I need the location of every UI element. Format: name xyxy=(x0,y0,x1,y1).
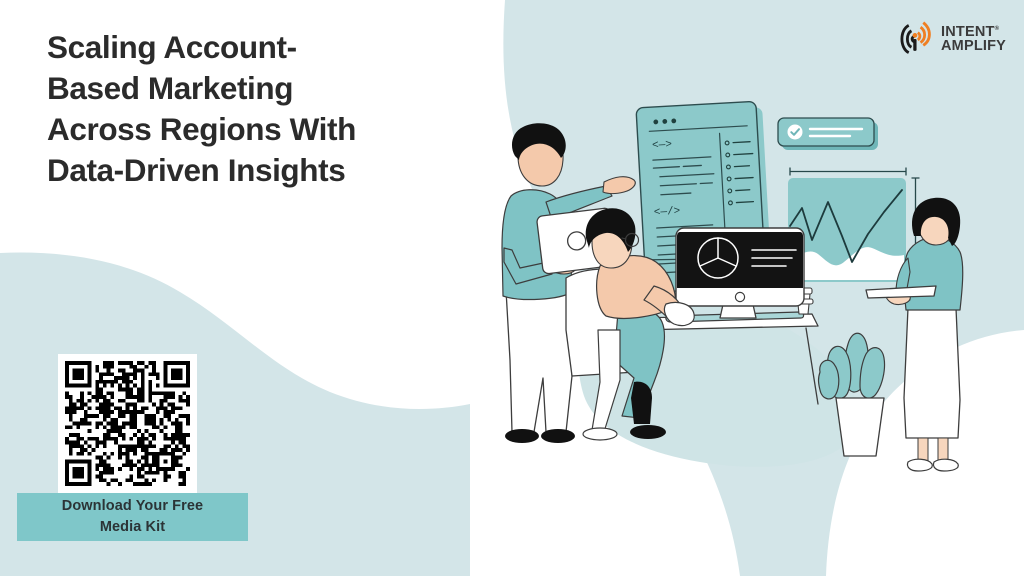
brand-logo[interactable]: INTENT® AMPLIFY xyxy=(896,17,1008,61)
pie-chart-monitor xyxy=(676,228,804,318)
logo-line-1: INTENT® xyxy=(941,25,1006,40)
shoe xyxy=(541,429,575,443)
qr-code[interactable] xyxy=(65,361,190,486)
registered-mark-icon: ® xyxy=(995,26,1000,32)
download-media-kit-button[interactable]: Download Your Free Media Kit xyxy=(17,493,248,541)
line-chart-panel xyxy=(788,168,919,282)
code-tag-glyph-2: <—/> xyxy=(654,206,681,219)
pointing-hand xyxy=(603,177,635,194)
laptop-device xyxy=(866,286,936,298)
slide-canvas: <—> <—/> xyxy=(0,0,1024,576)
shoe xyxy=(630,425,666,439)
logo-wordmark: INTENT® AMPLIFY xyxy=(941,25,1006,54)
signal-broadcast-icon xyxy=(896,19,936,59)
shoe-light xyxy=(583,428,617,440)
shoe xyxy=(505,429,539,443)
plant-pot xyxy=(836,398,884,456)
shoe-light xyxy=(907,459,932,471)
checklist-card xyxy=(778,118,878,150)
qr-code-container[interactable] xyxy=(58,354,197,493)
monitor-power-dot xyxy=(735,292,744,301)
check-circle-icon xyxy=(788,125,803,140)
page-title: Scaling Account- Based Marketing Across … xyxy=(47,27,477,191)
code-tag-glyph: <—> xyxy=(652,139,672,152)
logo-line-2: AMPLIFY xyxy=(941,39,1006,54)
shoe-light xyxy=(933,459,958,471)
